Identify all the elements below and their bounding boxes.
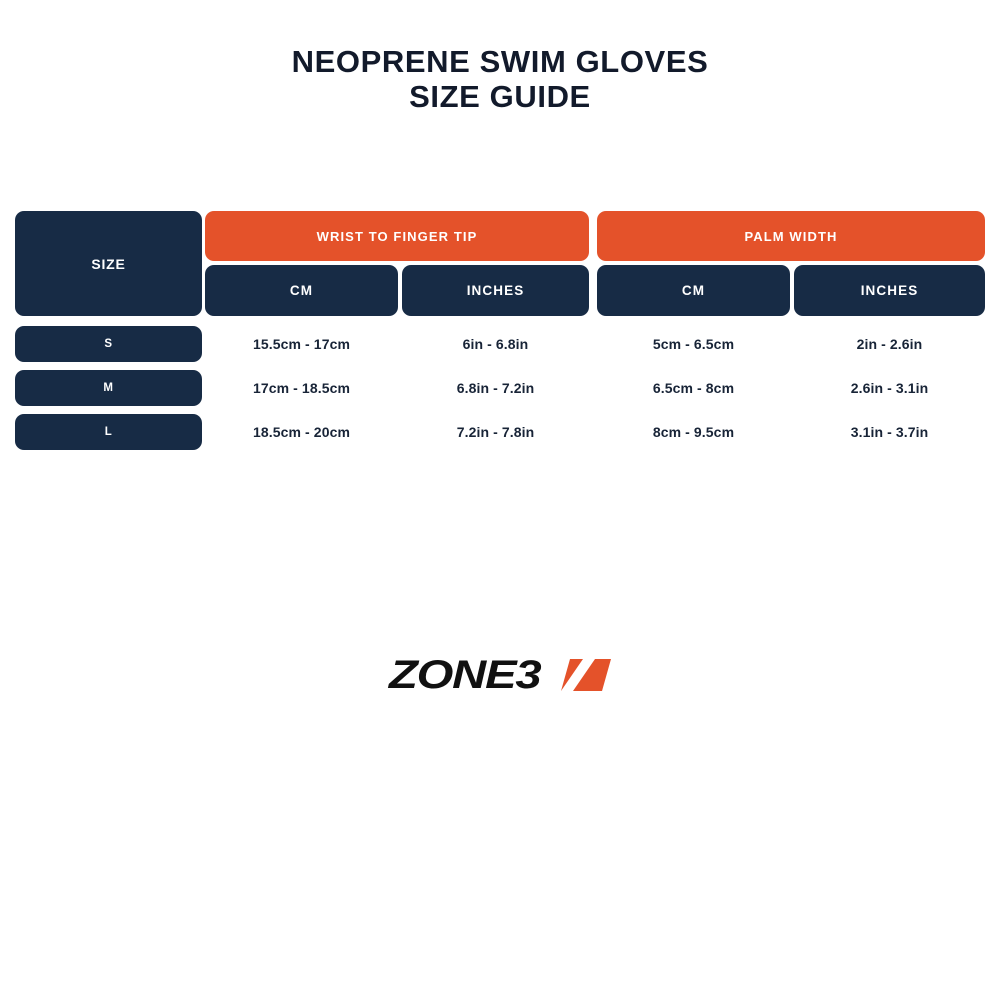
brand-wordmark: ZONE3 <box>389 655 540 695</box>
table-subheader-palm-inches: INCHES <box>794 265 985 316</box>
table-cell-wrist-inches: 6.8in - 7.2in <box>402 370 589 406</box>
table-subheader-palm-inches-label: INCHES <box>861 283 919 298</box>
zone3-slash-mark-icon <box>561 659 611 691</box>
table-cell-wrist-cm: 17cm - 18.5cm <box>205 370 398 406</box>
table-cell-palm-cm: 6.5cm - 8cm <box>597 370 790 406</box>
table-row: S <box>15 326 202 362</box>
table-subheader-wrist-inches: INCHES <box>402 265 589 316</box>
table-cell-wrist-cm: 15.5cm - 17cm <box>205 326 398 362</box>
table-cell-wrist-inches: 7.2in - 7.8in <box>402 414 589 450</box>
table-subheader-wrist-cm-label: CM <box>290 283 313 298</box>
table-row: M <box>15 370 202 406</box>
table-row: L <box>15 414 202 450</box>
table-cell-palm-inches: 3.1in - 3.7in <box>794 414 985 450</box>
table-header-size: SIZE <box>15 211 202 316</box>
row-size-label: L <box>105 426 113 438</box>
brand-logo: ZONE3 <box>0 650 1000 700</box>
table-subheader-palm-cm-label: CM <box>682 283 705 298</box>
page-title-line-2: SIZE GUIDE <box>0 79 1000 114</box>
table-group-header-palm: PALM WIDTH <box>597 211 985 261</box>
table-subheader-wrist-inches-label: INCHES <box>467 283 525 298</box>
table-cell-palm-inches: 2in - 2.6in <box>794 326 985 362</box>
row-size-label: M <box>103 382 113 394</box>
table-cell-wrist-inches: 6in - 6.8in <box>402 326 589 362</box>
page-title: NEOPRENE SWIM GLOVES SIZE GUIDE <box>0 44 1000 114</box>
table-cell-palm-inches: 2.6in - 3.1in <box>794 370 985 406</box>
table-group-header-palm-label: PALM WIDTH <box>744 229 837 244</box>
table-cell-wrist-cm: 18.5cm - 20cm <box>205 414 398 450</box>
size-guide-table: SIZE WRIST TO FINGER TIP PALM WIDTH CM I… <box>15 211 985 450</box>
table-cell-palm-cm: 8cm - 9.5cm <box>597 414 790 450</box>
table-subheader-wrist-cm: CM <box>205 265 398 316</box>
page-title-line-1: NEOPRENE SWIM GLOVES <box>0 44 1000 79</box>
table-subheader-palm-cm: CM <box>597 265 790 316</box>
row-size-label: S <box>104 338 112 350</box>
table-header-size-label: SIZE <box>91 256 125 272</box>
table-cell-palm-cm: 5cm - 6.5cm <box>597 326 790 362</box>
table-group-header-wrist: WRIST TO FINGER TIP <box>205 211 589 261</box>
table-group-header-wrist-label: WRIST TO FINGER TIP <box>317 229 478 244</box>
